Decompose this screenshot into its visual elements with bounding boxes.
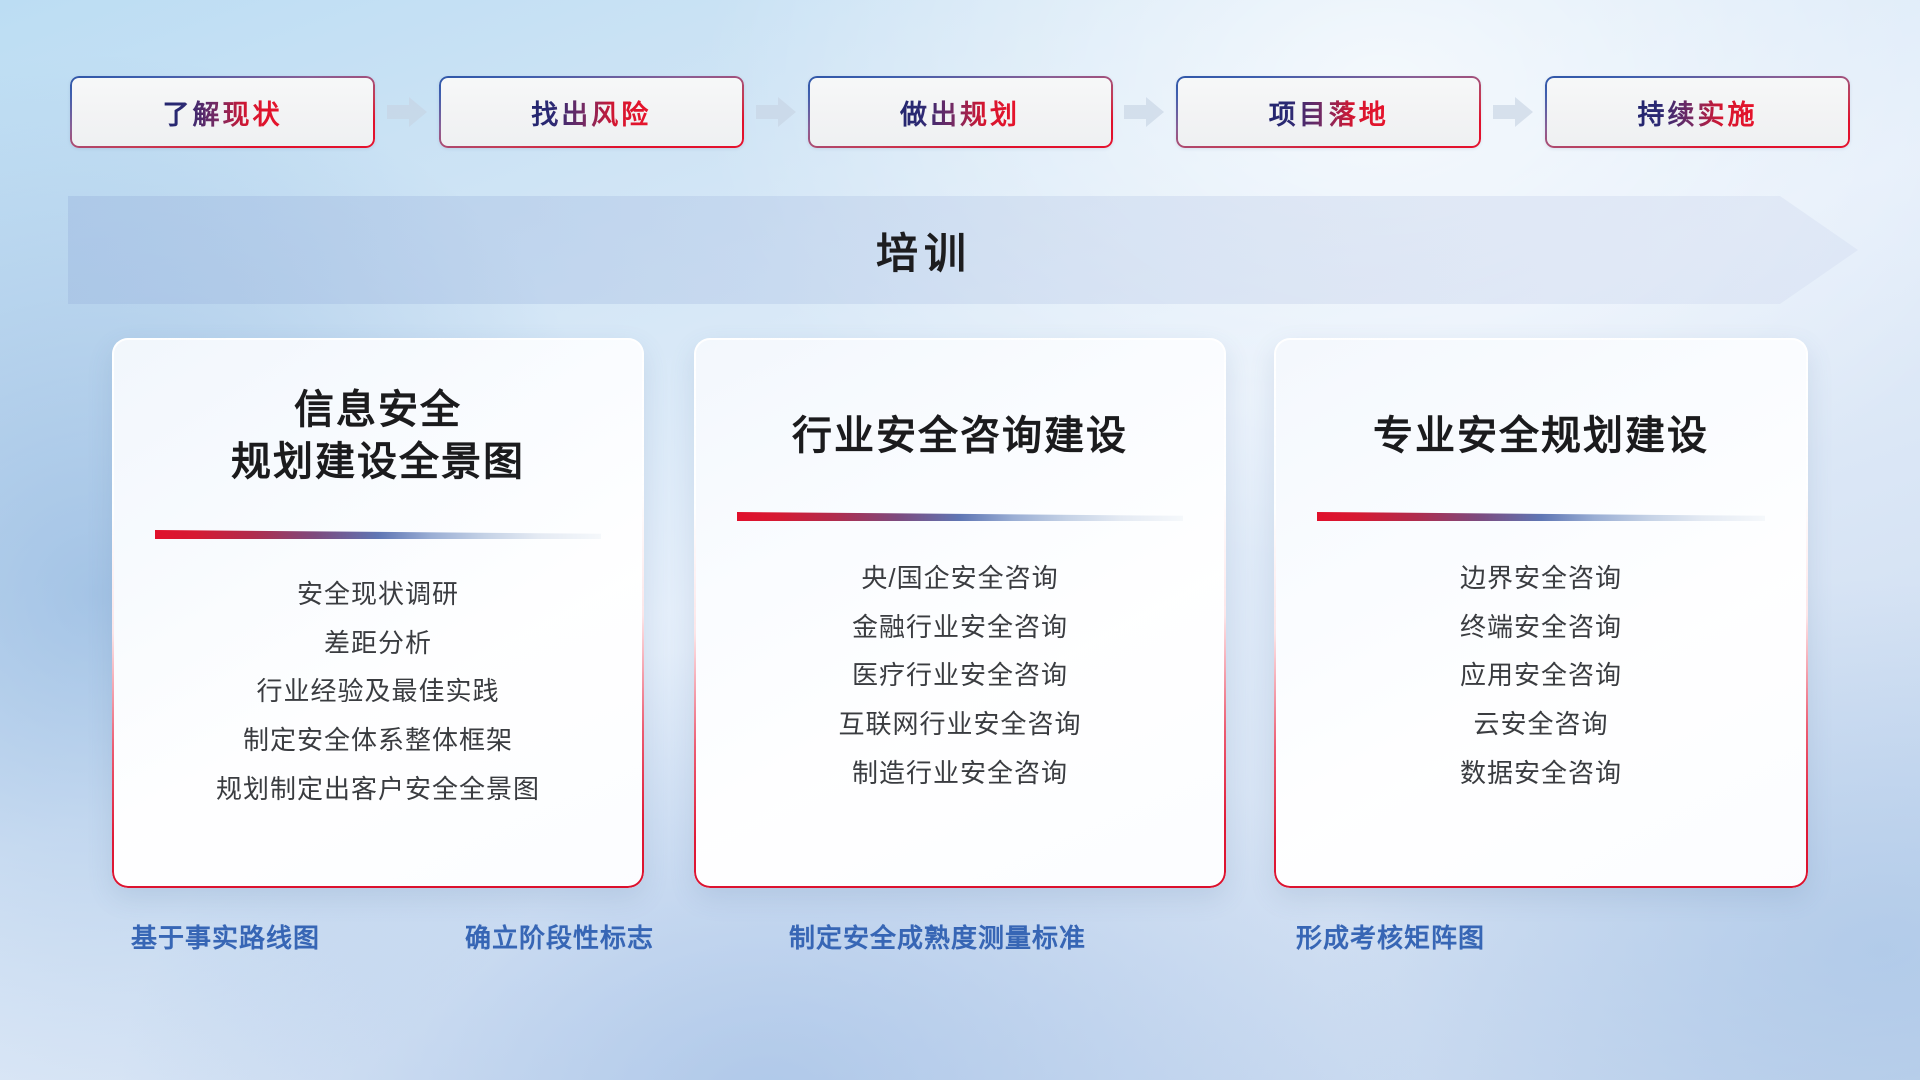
footer-label: 制定安全成熟度测量标准 <box>789 918 1086 955</box>
step-label: 找出风险 <box>531 93 651 132</box>
card-professional-security-planning[interactable]: 专业安全规划建设 边界安全咨询 终端安全咨询 应用安全咨询 云安全咨询 数据安全… <box>1274 338 1808 888</box>
arrow-right-icon <box>1124 95 1164 129</box>
list-item: 金融行业安全咨询 <box>720 612 1200 644</box>
step-label: 项目落地 <box>1269 93 1389 132</box>
card-group: 信息安全 规划建设全景图 安全现状调研 差距分析 行业经验及最佳实践 制定安全体… <box>0 338 1920 888</box>
footer-label: 基于事实路线图 <box>131 918 320 955</box>
step-box-2[interactable]: 找出风险 <box>439 76 744 148</box>
step-box-4[interactable]: 项目落地 <box>1176 76 1481 148</box>
list-item: 制定安全体系整体框架 <box>138 725 618 757</box>
step-box-3[interactable]: 做出规划 <box>808 76 1113 148</box>
footer-labels: 基于事实路线图 确立阶段性标志 制定安全成熟度测量标准 形成考核矩阵图 <box>0 918 1920 964</box>
list-item: 规划制定出客户安全全景图 <box>138 774 618 806</box>
list-item: 应用安全咨询 <box>1300 660 1782 692</box>
card-title: 行业安全咨询建设 <box>720 410 1200 462</box>
list-item: 央/国企安全咨询 <box>720 563 1200 595</box>
list-item: 云安全咨询 <box>1300 709 1782 741</box>
step-box-5[interactable]: 持续实施 <box>1545 76 1850 148</box>
card-title: 信息安全 规划建设全景图 <box>138 384 618 488</box>
list-item: 医疗行业安全咨询 <box>720 660 1200 692</box>
card-divider <box>1317 512 1765 521</box>
process-steps: 了解现状 找出风险 做出规划 项目落地 持续实施 <box>70 76 1850 148</box>
training-banner: 培训 <box>68 196 1858 304</box>
card-divider <box>155 530 601 539</box>
card-content: 专业安全规划建设 边界安全咨询 终端安全咨询 应用安全咨询 云安全咨询 数据安全… <box>1274 338 1808 888</box>
card-industry-security-consulting[interactable]: 行业安全咨询建设 央/国企安全咨询 金融行业安全咨询 医疗行业安全咨询 互联网行… <box>694 338 1226 888</box>
step-box-1[interactable]: 了解现状 <box>70 76 375 148</box>
card-information-security-blueprint[interactable]: 信息安全 规划建设全景图 安全现状调研 差距分析 行业经验及最佳实践 制定安全体… <box>112 338 644 888</box>
footer-label: 确立阶段性标志 <box>465 918 654 955</box>
arrow-right-icon <box>756 95 796 129</box>
list-item: 安全现状调研 <box>138 579 618 611</box>
card-divider <box>737 512 1183 521</box>
list-item: 行业经验及最佳实践 <box>138 676 618 708</box>
card-title: 专业安全规划建设 <box>1300 410 1782 462</box>
list-item: 数据安全咨询 <box>1300 758 1782 790</box>
list-item: 差距分析 <box>138 628 618 660</box>
card-item-list: 边界安全咨询 终端安全咨询 应用安全咨询 云安全咨询 数据安全咨询 <box>1300 563 1782 790</box>
list-item: 制造行业安全咨询 <box>720 758 1200 790</box>
card-item-list: 安全现状调研 差距分析 行业经验及最佳实践 制定安全体系整体框架 规划制定出客户… <box>138 579 618 806</box>
list-item: 边界安全咨询 <box>1300 563 1782 595</box>
step-label: 持续实施 <box>1638 93 1758 132</box>
list-item: 互联网行业安全咨询 <box>720 709 1200 741</box>
arrow-right-icon <box>387 95 427 129</box>
step-label: 做出规划 <box>900 93 1020 132</box>
arrow-right-icon <box>1493 95 1533 129</box>
card-content: 行业安全咨询建设 央/国企安全咨询 金融行业安全咨询 医疗行业安全咨询 互联网行… <box>694 338 1226 888</box>
banner-title: 培训 <box>68 196 1780 304</box>
card-content: 信息安全 规划建设全景图 安全现状调研 差距分析 行业经验及最佳实践 制定安全体… <box>112 338 644 888</box>
slide-canvas: 了解现状 找出风险 做出规划 项目落地 持续实施 培训 <box>0 0 1920 1080</box>
list-item: 终端安全咨询 <box>1300 612 1782 644</box>
step-label: 了解现状 <box>163 93 283 132</box>
card-item-list: 央/国企安全咨询 金融行业安全咨询 医疗行业安全咨询 互联网行业安全咨询 制造行… <box>720 563 1200 790</box>
footer-label: 形成考核矩阵图 <box>1296 918 1485 955</box>
